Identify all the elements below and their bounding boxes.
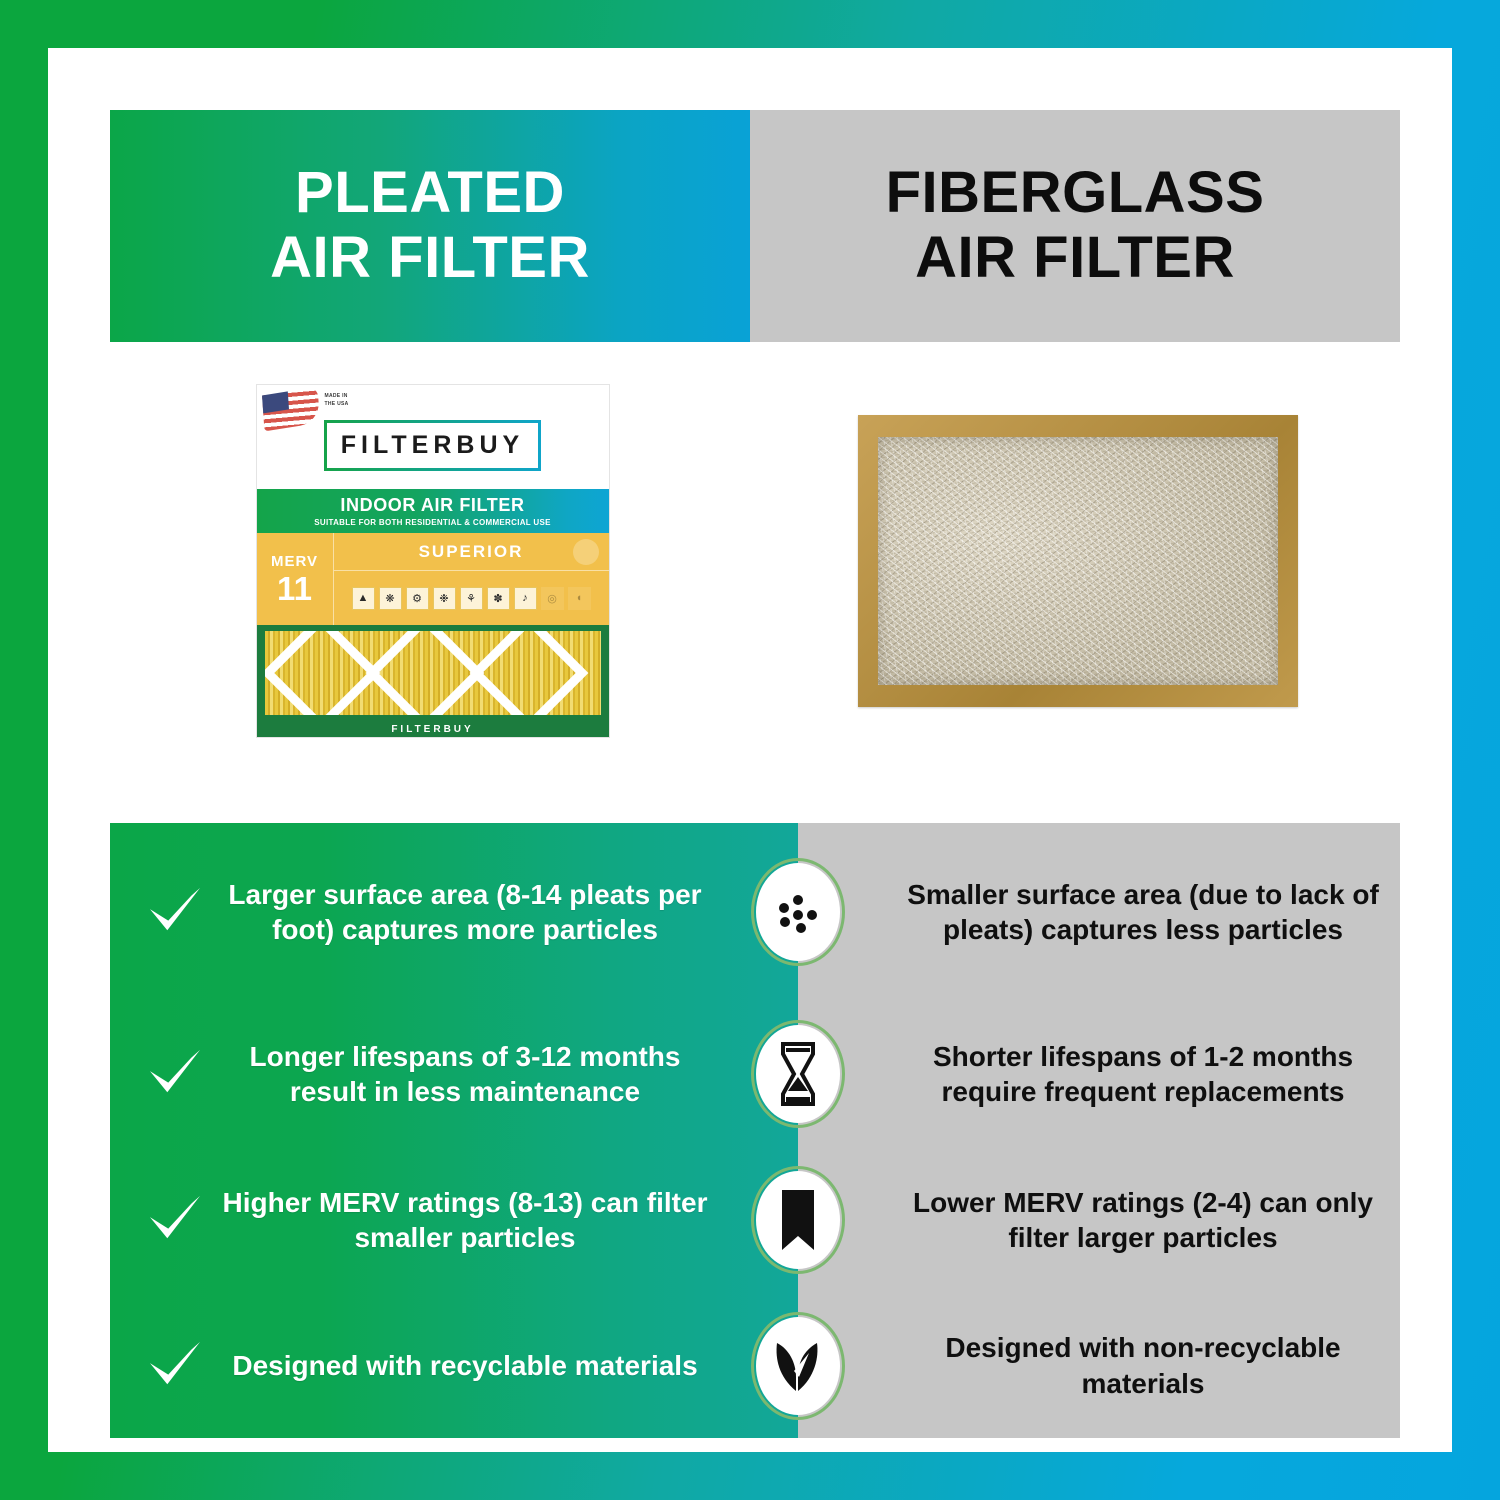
smoke-icon: ♪: [514, 587, 537, 610]
odor-icon: ◎: [541, 587, 564, 610]
virus-icon: ⚙: [406, 587, 429, 610]
particles-icon: [751, 858, 845, 966]
pollen-icon: ❉: [433, 587, 456, 610]
mold-icon: ⚘: [460, 587, 483, 610]
pleated-label-top: MADE IN THE USA FILTERBUY: [257, 385, 609, 489]
fiberglass-mesh-texture: [878, 437, 1278, 685]
row-2-pleated-cell: Longer lifespans of 3-12 months result i…: [110, 1001, 798, 1147]
fiberglass-filter-image: [858, 415, 1298, 707]
header-pleated-line2: AIR FILTER: [270, 226, 590, 291]
filterbuy-logo: FILTERBUY: [324, 420, 541, 471]
hourglass-icon: [751, 1020, 845, 1128]
indoor-air-filter-text: INDOOR AIR FILTER: [340, 495, 524, 516]
usa-flag-icon: [261, 387, 319, 432]
ul-certification-icon: [573, 539, 599, 565]
support-diamond: [469, 631, 588, 715]
merv-value: 11: [277, 572, 312, 605]
merv-badge: MERV 11: [257, 533, 333, 625]
infographic-card: PLEATED AIR FILTER FIBERGLASS AIR FILTER…: [48, 48, 1452, 1452]
row-1-fiberglass-cell: Smaller surface area (due to lack of ple…: [798, 823, 1400, 1001]
comparison-section: Larger surface area (8-14 pleats per foo…: [110, 823, 1400, 1438]
comparison-row: Designed with recyclable materials Desig…: [110, 1293, 1400, 1438]
header-fiberglass: FIBERGLASS AIR FILTER: [750, 110, 1400, 342]
row-3-fiberglass-text: Lower MERV ratings (2-4) can only filter…: [906, 1185, 1380, 1256]
made-in-line2: THE USA: [325, 401, 349, 409]
pleated-label-band: INDOOR AIR FILTER SUITABLE FOR BOTH RESI…: [257, 489, 609, 533]
bacteria-icon: ❋: [379, 587, 402, 610]
made-in-usa-text: MADE IN THE USA: [325, 393, 349, 408]
row-4-fiberglass-text: Designed with non-recyclable materials: [906, 1330, 1380, 1401]
row-3-pleated-cell: Higher MERV ratings (8-13) can filter sm…: [110, 1147, 798, 1293]
filterbuy-logo-text: FILTERBUY: [341, 431, 524, 459]
row-1-pleated-cell: Larger surface area (8-14 pleats per foo…: [110, 823, 798, 1001]
check-icon: [134, 1048, 216, 1100]
bookmark-icon: [751, 1166, 845, 1274]
leaf-icon: [751, 1312, 845, 1420]
row-3-pleated-text: Higher MERV ratings (8-13) can filter sm…: [216, 1185, 798, 1256]
merv-right-panel: SUPERIOR ▲ ❋ ⚙ ❉ ⚘ ✽ ♪ ◎ ◖: [333, 533, 609, 625]
check-icon: [134, 1340, 216, 1392]
header-pleated: PLEATED AIR FILTER: [110, 110, 750, 342]
header-fiberglass-line2: AIR FILTER: [886, 226, 1265, 291]
row-3-fiberglass-cell: Lower MERV ratings (2-4) can only filter…: [798, 1147, 1400, 1293]
row-4-pleated-text: Designed with recyclable materials: [216, 1348, 798, 1383]
suitable-use-text: SUITABLE FOR BOTH RESIDENTIAL & COMMERCI…: [314, 518, 550, 527]
made-in-line1: MADE IN: [325, 393, 349, 401]
pleated-product-cell: MADE IN THE USA FILTERBUY INDOOR AIR FIL…: [110, 342, 755, 780]
pleat-texture: [265, 631, 601, 715]
feature-icon-strip: ▲ ❋ ⚙ ❉ ⚘ ✽ ♪ ◎ ◖: [334, 571, 609, 625]
tier-row: SUPERIOR: [334, 533, 609, 571]
dust-icon: ▲: [352, 587, 375, 610]
comparison-row: Higher MERV ratings (8-13) can filter sm…: [110, 1147, 1400, 1293]
header-pleated-line1: PLEATED: [270, 161, 590, 226]
check-icon: [134, 1194, 216, 1246]
pet-dander-icon: ✽: [487, 587, 510, 610]
row-2-pleated-text: Longer lifespans of 3-12 months result i…: [216, 1039, 798, 1110]
row-4-pleated-cell: Designed with recyclable materials: [110, 1293, 798, 1438]
pleated-bottom-brand: FILTERBUY: [257, 724, 609, 735]
comparison-row: Larger surface area (8-14 pleats per foo…: [110, 823, 1400, 1001]
pleated-filter-image: MADE IN THE USA FILTERBUY INDOOR AIR FIL…: [257, 385, 609, 737]
product-image-row: MADE IN THE USA FILTERBUY INDOOR AIR FIL…: [110, 342, 1400, 780]
merv-label: MERV: [271, 553, 318, 570]
header-band: PLEATED AIR FILTER FIBERGLASS AIR FILTER: [110, 110, 1400, 342]
row-4-fiberglass-cell: Designed with non-recyclable materials: [798, 1293, 1400, 1438]
fiberglass-product-cell: [755, 342, 1400, 780]
check-icon: [134, 886, 216, 938]
support-diamond: [265, 631, 380, 715]
smog-icon: ◖: [568, 587, 591, 610]
header-pleated-title: PLEATED AIR FILTER: [270, 161, 590, 291]
row-1-pleated-text: Larger surface area (8-14 pleats per foo…: [216, 877, 798, 948]
comparison-row: Longer lifespans of 3-12 months result i…: [110, 1001, 1400, 1147]
header-fiberglass-line1: FIBERGLASS: [886, 161, 1265, 226]
row-2-fiberglass-cell: Shorter lifespans of 1-2 months require …: [798, 1001, 1400, 1147]
row-2-fiberglass-text: Shorter lifespans of 1-2 months require …: [906, 1039, 1380, 1110]
tier-label: SUPERIOR: [419, 542, 524, 562]
header-fiberglass-title: FIBERGLASS AIR FILTER: [886, 161, 1265, 291]
support-diamond: [365, 631, 484, 715]
row-1-fiberglass-text: Smaller surface area (due to lack of ple…: [906, 877, 1380, 948]
pleated-merv-row: MERV 11 SUPERIOR ▲ ❋ ⚙ ❉ ⚘: [257, 533, 609, 625]
pleated-media-area: FILTERBUY: [257, 625, 609, 737]
